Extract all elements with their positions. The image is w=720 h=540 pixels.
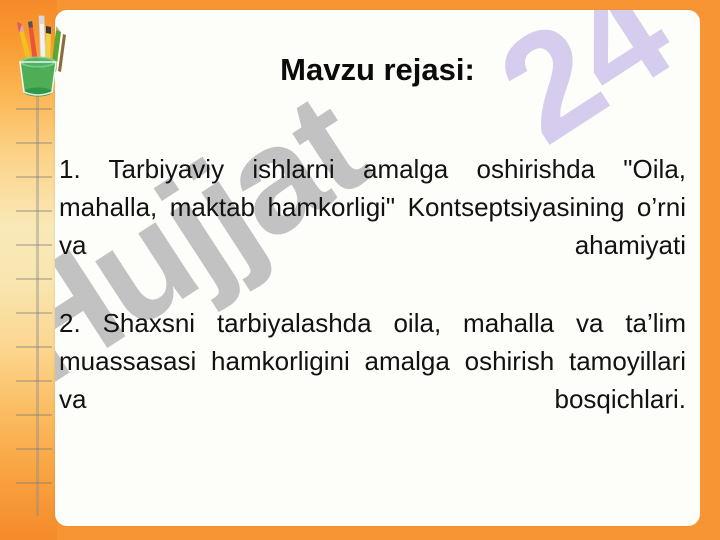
ruler-tick-icon (16, 278, 52, 280)
watermark-24: 24 (470, 10, 697, 177)
ruler-tick-icon (16, 210, 52, 212)
ruler-tick-icon (16, 108, 52, 110)
ruler-tick-icon (16, 482, 52, 484)
pencil-cup-icon (6, 12, 70, 100)
ruler-line-icon (36, 88, 39, 516)
ruler-tick-icon (16, 244, 52, 246)
ruler-tick-icon (16, 346, 52, 348)
ruler-tick-icon (16, 380, 52, 382)
watermark-hujjat: Hujjat (55, 60, 391, 419)
ruler-tick-icon (16, 448, 52, 450)
ruler-tick-icon (16, 142, 52, 144)
slide-content-panel: Hujjat 24 (55, 10, 700, 526)
ruler-tick-icon (16, 176, 52, 178)
presentation-slide: Hujjat 24 (0, 0, 720, 540)
ruler-tick-icon (16, 414, 52, 416)
ruler-tick-icon (16, 312, 52, 314)
